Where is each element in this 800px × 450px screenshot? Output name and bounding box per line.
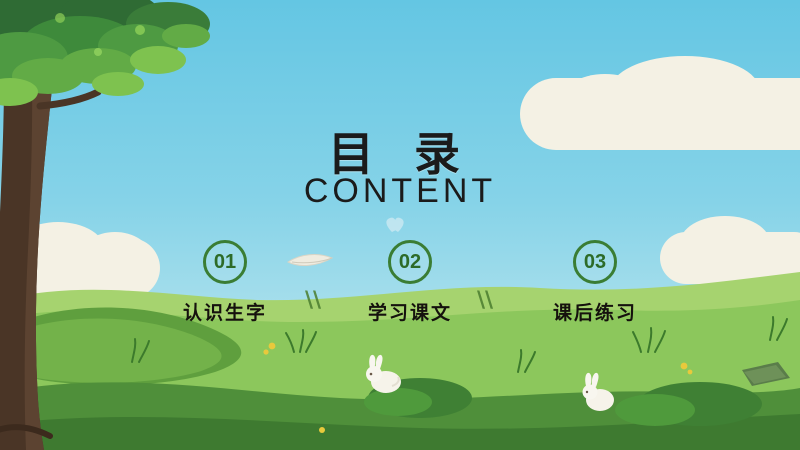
content-item-2[interactable]: 02 学习课文	[335, 240, 485, 325]
butterfly-icon	[386, 218, 403, 232]
item-number-badge-1: 01	[203, 240, 247, 284]
item-label-2: 学习课文	[335, 298, 485, 325]
item-label-1: 认识生字	[150, 298, 300, 325]
content-items: 01 认识生字 02 学习课文 03 课后练习	[150, 240, 670, 340]
item-divider-2: \\	[477, 288, 493, 313]
tree	[0, 0, 260, 450]
content-item-1[interactable]: 01 认识生字	[150, 240, 300, 325]
item-number-badge-3: 03	[573, 240, 617, 284]
content-item-3[interactable]: 03 课后练习	[520, 240, 670, 325]
page-title-en: CONTENT	[0, 172, 800, 211]
slide-canvas: 目 录 CONTENT 01 认识生字 02 学习课文 03 课后练习 \\ \…	[0, 0, 800, 450]
item-label-3: 课后练习	[520, 298, 670, 325]
item-number-badge-2: 02	[388, 240, 432, 284]
item-divider-1: \\	[305, 288, 321, 313]
